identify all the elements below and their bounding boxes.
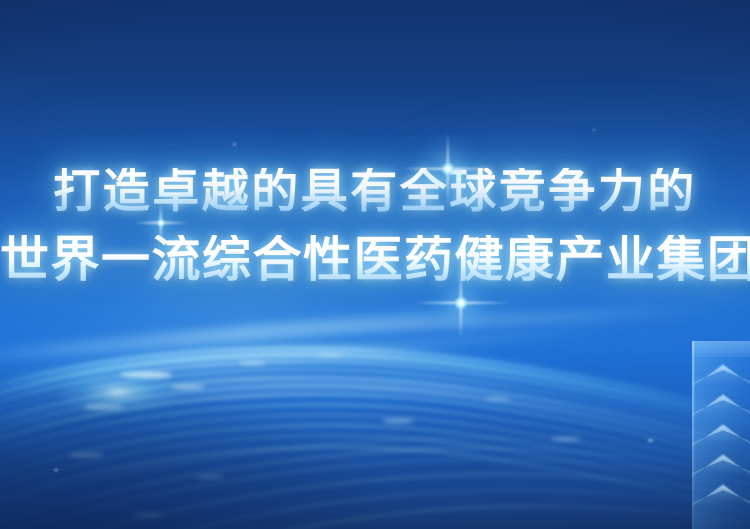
vision-banner: 打造卓越的具有全球竞争力的 世界一流综合性医药健康产业集团 <box>0 0 750 529</box>
spark-dot <box>232 142 237 147</box>
spark-dot <box>592 128 596 132</box>
headline-line-2: 世界一流综合性医药健康产业集团 <box>0 235 750 284</box>
bottom-left-shadow <box>0 381 375 529</box>
headline-block: 打造卓越的具有全球竞争力的 世界一流综合性医药健康产业集团 <box>0 168 750 284</box>
spark-dot <box>646 438 655 443</box>
headline-line-1: 打造卓越的具有全球竞争力的 <box>0 168 750 215</box>
spark-dot <box>52 468 60 472</box>
